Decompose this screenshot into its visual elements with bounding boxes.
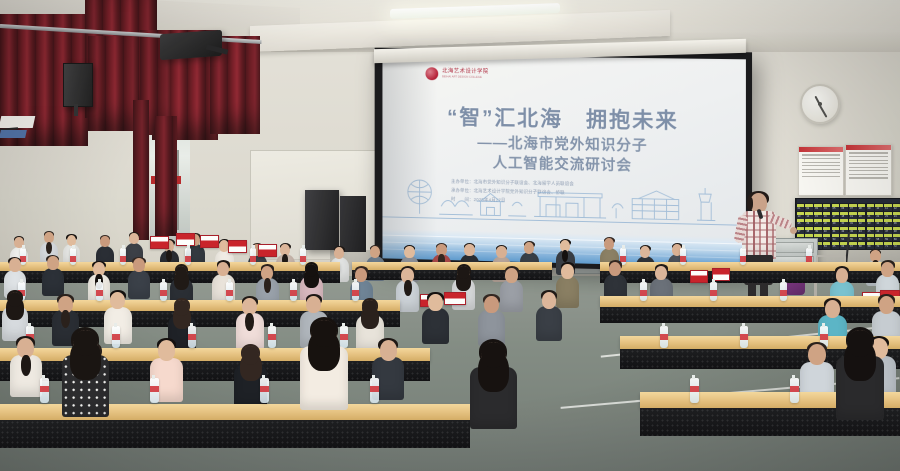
audience-member	[2, 292, 28, 340]
pocket-row: 252627282930313233343536	[796, 219, 900, 226]
pocket-slot: 02	[805, 204, 813, 211]
name-placard	[228, 240, 247, 253]
pocket-row: 131415161718192021222324	[796, 212, 900, 219]
pocket-slot: 13	[797, 212, 805, 219]
water-bottle	[780, 282, 787, 301]
pocket-slot: 37	[797, 227, 805, 234]
audience-head	[334, 247, 344, 259]
pocket-slot: 40	[823, 227, 831, 234]
audience-head	[464, 244, 474, 256]
pocket-slot: 64	[823, 242, 831, 249]
pocket-slot: 23	[884, 212, 892, 219]
water-bottle	[290, 282, 297, 301]
audience-torso	[42, 268, 64, 297]
audience-head	[9, 258, 21, 272]
pocket-slot: 31	[849, 219, 857, 226]
pocket-slot: 59	[884, 234, 892, 241]
audience-member	[422, 294, 449, 343]
wall-notice	[798, 146, 844, 196]
audience-head	[640, 246, 650, 258]
audience-member	[300, 320, 348, 406]
audience-head	[604, 238, 614, 250]
audience-member	[10, 338, 42, 395]
water-bottle	[226, 282, 233, 301]
presenter-hand	[790, 227, 797, 234]
pocket-slot: 08	[858, 204, 866, 211]
pocket-slot: 46	[875, 227, 883, 234]
water-bottle	[370, 378, 379, 403]
water-bottle	[96, 282, 103, 301]
pocket-slot: 39	[814, 227, 822, 234]
audience-head	[133, 258, 145, 272]
water-bottle	[188, 326, 196, 348]
water-bottle	[740, 326, 748, 348]
name-placard	[690, 270, 708, 283]
audience-head	[129, 233, 139, 244]
pocket-slot: 57	[867, 234, 875, 241]
pocket-slot: 70	[875, 242, 883, 249]
audience-ponytail	[404, 280, 412, 296]
pocket-slot: 22	[875, 212, 883, 219]
water-bottle	[185, 248, 191, 265]
pocket-slot: 65	[832, 242, 840, 249]
pocket-slot: 25	[797, 219, 805, 226]
pocket-slot: 09	[867, 204, 875, 211]
pocket-slot: 10	[875, 204, 883, 211]
pocket-slot: 11	[884, 204, 892, 211]
pocket-slot: 36	[893, 219, 900, 226]
audience-head	[404, 246, 414, 258]
pocket-slot: 52	[823, 234, 831, 241]
pocket-slot: 18	[840, 212, 848, 219]
pocket-slot: 58	[875, 234, 883, 241]
pocket-slot: 53	[832, 234, 840, 241]
water-bottle	[70, 248, 76, 265]
water-bottle	[790, 378, 799, 403]
audience-head	[158, 340, 176, 361]
water-bottle	[710, 282, 717, 301]
stage-speaker-icon	[340, 196, 366, 252]
pocket-slot: 28	[823, 219, 831, 226]
water-bottle	[120, 248, 126, 265]
pocket-slot: 72	[893, 242, 900, 249]
pocket-slot: 01	[797, 204, 805, 211]
pocket-slot: 16	[823, 212, 831, 219]
pocket-slot: 55	[849, 234, 857, 241]
water-bottle	[660, 326, 668, 348]
audience-torso	[422, 308, 449, 344]
projection-screen: 北海艺术设计学院 BEIHAI ART DESIGN COLLEGE “智”汇北…	[382, 55, 745, 268]
pocket-slot: 60	[893, 234, 900, 241]
notebook	[0, 130, 27, 138]
audience-head	[524, 242, 534, 254]
audience-head	[380, 340, 397, 361]
pocket-slot: 48	[893, 227, 900, 234]
audience-head	[542, 292, 556, 309]
audience-member	[478, 296, 505, 345]
presenter-hair-side	[747, 197, 753, 210]
pocket-slot: 03	[814, 204, 822, 211]
audience-head	[825, 300, 840, 318]
water-bottle	[150, 378, 159, 403]
pocket-slot: 27	[814, 219, 822, 226]
audience-head	[808, 344, 826, 365]
pocket-slot: 38	[805, 227, 813, 234]
pocket-slot: 44	[858, 227, 866, 234]
pocket-slot: 06	[840, 204, 848, 211]
audience-head	[242, 346, 260, 365]
audience-head	[836, 268, 849, 283]
screen-fold-shadow	[382, 55, 437, 260]
clock-icon	[800, 84, 840, 124]
audience-head	[174, 300, 189, 316]
pocket-slot: 67	[849, 242, 857, 249]
pocket-slot: 14	[805, 212, 813, 219]
audience-head	[457, 266, 469, 279]
name-placard	[258, 244, 277, 257]
water-bottle	[740, 248, 746, 265]
audience-head	[362, 300, 377, 316]
audience-head	[428, 294, 442, 311]
pocket-slot: 20	[858, 212, 866, 219]
audience-head	[47, 256, 59, 270]
pocket-row: 010203040506070809101112	[796, 204, 900, 211]
pocket-slot: 21	[867, 212, 875, 219]
audience-member	[236, 298, 264, 348]
pocket-slot: 19	[849, 212, 857, 219]
pocket-slot: 15	[814, 212, 822, 219]
audience-head	[73, 330, 98, 356]
audience-head	[100, 236, 110, 247]
pocket-slot: 07	[849, 204, 857, 211]
pocket-slot: 33	[867, 219, 875, 226]
water-bottle	[352, 282, 359, 301]
pocket-slot: 26	[805, 219, 813, 226]
pocket-slot: 35	[884, 219, 892, 226]
audience-head	[311, 320, 337, 347]
pocket-slot: 29	[832, 219, 840, 226]
audience-head	[561, 264, 573, 279]
stage-speaker-icon	[305, 190, 339, 250]
curtain-drape	[155, 116, 177, 236]
audience-head	[881, 262, 893, 277]
desk-front-panel	[600, 307, 900, 323]
desk-surface	[600, 262, 900, 271]
audience-member	[470, 342, 517, 426]
wall-notice	[845, 144, 892, 196]
pocket-slot: 24	[893, 212, 900, 219]
college-wordmark: 北海艺术设计学院 BEIHAI ART DESIGN COLLEGE	[442, 69, 489, 80]
pocket-slot: 45	[867, 227, 875, 234]
audience-ponytail	[21, 355, 32, 376]
pocket-slot: 05	[832, 204, 840, 211]
water-bottle	[690, 378, 699, 403]
audience-member	[42, 256, 64, 295]
desk-row	[600, 262, 900, 283]
pocket-slot: 68	[858, 242, 866, 249]
name-placard	[176, 233, 195, 246]
pocket-slot: 69	[867, 242, 875, 249]
pocket-slot: 41	[832, 227, 840, 234]
water-bottle	[40, 378, 49, 403]
pocket-slot: 47	[884, 227, 892, 234]
water-bottle	[112, 326, 120, 348]
audience-head	[496, 246, 506, 258]
pocket-slot: 56	[858, 234, 866, 241]
curtain-drape	[133, 100, 149, 240]
audience-head	[370, 246, 380, 258]
pocket-slot: 30	[840, 219, 848, 226]
water-bottle	[250, 248, 256, 265]
photo-scene: 北海艺术设计学院 BEIHAI ART DESIGN COLLEGE “智”汇北…	[0, 0, 900, 471]
pocket-slot: 42	[840, 227, 848, 234]
pocket-slot: 34	[875, 219, 883, 226]
audience-head	[481, 342, 506, 368]
pocket-slot: 17	[832, 212, 840, 219]
audience-member	[536, 292, 562, 340]
pocket-slot: 04	[823, 204, 831, 211]
audience-torso	[536, 306, 562, 341]
name-placard	[150, 236, 169, 249]
audience-head	[484, 296, 498, 313]
audience-head	[847, 330, 873, 357]
water-bottle	[300, 248, 306, 265]
wall-speaker-icon	[63, 63, 93, 107]
pocket-slot: 71	[884, 242, 892, 249]
name-placard	[200, 235, 219, 248]
pocket-slot: 43	[849, 227, 857, 234]
water-bottle	[640, 282, 647, 301]
water-bottle	[260, 378, 269, 403]
audience-head	[505, 268, 517, 283]
pocket-slot: 12	[893, 204, 900, 211]
audience-ponytail	[46, 242, 52, 254]
college-name-en: BEIHAI ART DESIGN COLLEGE	[442, 76, 489, 80]
audience-head	[879, 296, 894, 314]
desk-front-panel	[0, 420, 470, 448]
curtain-panel	[88, 36, 138, 131]
water-bottle	[680, 248, 686, 265]
audience-member	[62, 330, 109, 414]
pocket-slot: 32	[858, 219, 866, 226]
water-bottle	[268, 326, 276, 348]
speaker-mount	[74, 104, 78, 116]
water-bottle	[160, 282, 167, 301]
audience-member	[836, 330, 884, 416]
